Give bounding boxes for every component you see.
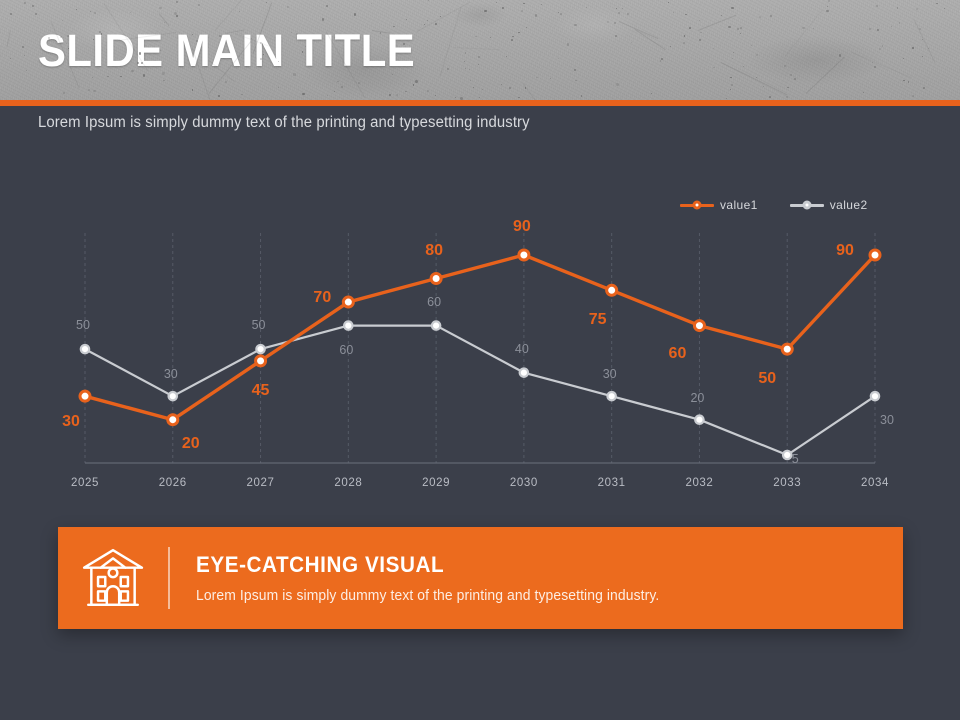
chart-legend: value1value2	[680, 198, 868, 212]
slide-header: SLIDE MAIN TITLE	[0, 0, 960, 100]
banner-divider	[168, 547, 170, 609]
x-tick-label-2032: 2032	[685, 477, 713, 489]
data-point-value2-2034[interactable]	[871, 392, 879, 400]
data-label-value2-2032: 20	[690, 391, 704, 405]
x-tick-label-2031: 2031	[598, 477, 626, 489]
x-tick-label-2028: 2028	[334, 477, 362, 489]
data-label-value1-2029: 80	[425, 242, 443, 260]
data-label-value2-2033: 5	[792, 452, 799, 466]
data-point-value1-2025[interactable]	[80, 391, 90, 401]
legend-item-value1[interactable]: value1	[680, 198, 758, 212]
legend-label: value1	[720, 198, 758, 212]
slide-subtitle: Lorem Ipsum is simply dummy text of the …	[38, 114, 530, 132]
data-label-value1-2031: 75	[589, 311, 607, 329]
data-point-value2-2027[interactable]	[256, 345, 264, 353]
data-point-value1-2027[interactable]	[256, 356, 266, 366]
data-label-value2-2034: 30	[880, 413, 894, 427]
banner-body-text: Lorem Ipsum is simply dummy text of the …	[196, 588, 875, 604]
data-point-value1-2030[interactable]	[519, 250, 529, 260]
data-point-value2-2025[interactable]	[81, 345, 89, 353]
banner-heading: EYE-CATCHING VISUAL	[196, 552, 861, 578]
x-tick-label-2026: 2026	[159, 477, 187, 489]
legend-marker-icon	[693, 201, 702, 210]
legend-swatch-value2	[790, 204, 824, 207]
data-label-value2-2026: 30	[164, 367, 178, 381]
data-point-value2-2030[interactable]	[520, 368, 528, 376]
eye-catching-visual-banner[interactable]: EYE-CATCHING VISUAL Lorem Ipsum is simpl…	[58, 527, 903, 629]
x-tick-label-2027: 2027	[247, 477, 275, 489]
data-point-value1-2029[interactable]	[431, 274, 441, 284]
data-point-value1-2033[interactable]	[782, 344, 792, 354]
data-label-value1-2025: 30	[62, 413, 80, 431]
data-point-value1-2028[interactable]	[343, 297, 353, 307]
legend-swatch-value1	[680, 204, 714, 207]
data-point-value1-2032[interactable]	[694, 321, 704, 331]
data-point-value2-2028[interactable]	[344, 321, 352, 329]
data-point-value2-2026[interactable]	[169, 392, 177, 400]
data-point-value1-2026[interactable]	[168, 415, 178, 425]
data-label-value2-2027: 50	[252, 318, 266, 332]
series-line-value2	[85, 326, 875, 455]
x-tick-label-2029: 2029	[422, 477, 450, 489]
data-point-value1-2034[interactable]	[870, 250, 880, 260]
data-label-value1-2032: 60	[669, 345, 687, 363]
data-label-value1-2028: 70	[313, 289, 331, 307]
data-point-value2-2031[interactable]	[607, 392, 615, 400]
legend-label: value2	[830, 198, 868, 212]
x-tick-label-2030: 2030	[510, 477, 538, 489]
data-point-value2-2029[interactable]	[432, 321, 440, 329]
series-line-value1	[85, 255, 875, 420]
data-label-value1-2027: 45	[252, 382, 270, 400]
data-label-value1-2030: 90	[513, 218, 531, 236]
house-icon	[58, 545, 168, 611]
x-tick-label-2033: 2033	[773, 477, 801, 489]
data-label-value2-2031: 30	[603, 367, 617, 381]
data-label-value2-2030: 40	[515, 342, 529, 356]
legend-item-value2[interactable]: value2	[790, 198, 868, 212]
data-label-value2-2028: 60	[339, 343, 353, 357]
data-point-value1-2031[interactable]	[607, 285, 617, 295]
data-label-value2-2025: 50	[76, 318, 90, 332]
header-accent-rule	[0, 100, 960, 106]
x-tick-label-2025: 2025	[71, 477, 99, 489]
data-point-value2-2033[interactable]	[783, 451, 791, 459]
data-label-value1-2034: 90	[836, 242, 854, 260]
data-label-value1-2026: 20	[182, 435, 200, 453]
data-label-value1-2033: 50	[758, 370, 776, 388]
data-point-value2-2032[interactable]	[695, 416, 703, 424]
legend-marker-icon	[802, 201, 811, 210]
data-label-value2-2029: 60	[427, 295, 441, 309]
x-tick-label-2034: 2034	[861, 477, 889, 489]
